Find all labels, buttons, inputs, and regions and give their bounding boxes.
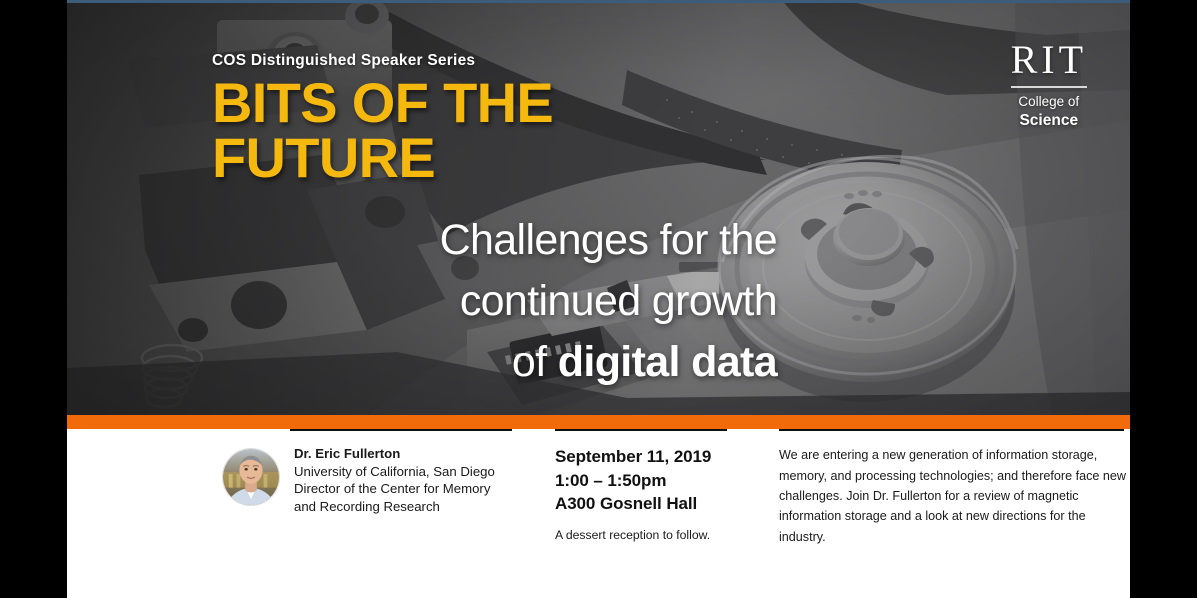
avatar — [222, 448, 280, 506]
rit-logo-unit-line-1: College of — [1011, 94, 1087, 111]
poster-info-row: Dr. Eric Fullerton University of Califor… — [67, 429, 1130, 598]
event-time: 1:00 – 1:50pm — [555, 469, 731, 492]
speaker-column: Dr. Eric Fullerton University of Califor… — [222, 429, 512, 515]
rit-logo-unit-line-2: Science — [1011, 111, 1087, 130]
event-date: September 11, 2019 — [555, 445, 731, 468]
speaker-affiliation: University of California, San Diego — [294, 463, 495, 481]
speaker-row: Dr. Eric Fullerton University of Califor… — [222, 445, 512, 515]
event-details-column: September 11, 2019 1:00 – 1:50pm A300 Go… — [555, 429, 731, 542]
description-column: We are entering a new generation of info… — [779, 429, 1127, 547]
series-eyebrow: COS Distinguished Speaker Series — [212, 52, 475, 70]
speaker-headshot-icon — [223, 449, 279, 505]
speaker-title-line-2: and Recording Research — [294, 498, 495, 516]
event-location: A300 Gosnell Hall — [555, 492, 731, 515]
poster-title-line-1: BITS OF THE — [212, 76, 732, 131]
rit-logo: RIT College of Science — [1011, 40, 1087, 130]
event-details-column-rule — [555, 429, 727, 431]
speaker-column-rule — [290, 429, 512, 431]
speaker-name: Dr. Eric Fullerton — [294, 445, 495, 463]
poster-subtitle: Challenges for the continued growth of d… — [237, 210, 777, 393]
poster-subtitle-line-1: Challenges for the — [237, 210, 777, 271]
poster-title-line-2: FUTURE — [212, 131, 732, 186]
poster-subtitle-line-3-prefix: of — [512, 338, 558, 386]
hero-banner: COS Distinguished Speaker Series BITS OF… — [67, 0, 1130, 415]
event-poster: COS Distinguished Speaker Series BITS OF… — [67, 0, 1130, 598]
poster-canvas: COS Distinguished Speaker Series BITS OF… — [0, 0, 1197, 598]
poster-title: BITS OF THE FUTURE — [212, 76, 732, 186]
poster-subtitle-emphasis: digital data — [558, 338, 777, 386]
speaker-title-line-1: Director of the Center for Memory — [294, 480, 495, 498]
speaker-details: Dr. Eric Fullerton University of Califor… — [294, 445, 495, 515]
event-reception-note: A dessert reception to follow. — [555, 528, 731, 542]
event-description: We are entering a new generation of info… — [779, 445, 1127, 547]
poster-subtitle-line-3: of digital data — [237, 332, 777, 393]
rit-wordmark: RIT — [1011, 40, 1087, 80]
description-column-rule — [779, 429, 1124, 431]
top-accent-rule — [67, 0, 1130, 3]
rit-logo-divider — [1011, 86, 1087, 88]
orange-accent-band — [67, 415, 1130, 429]
poster-subtitle-line-2: continued growth — [237, 271, 777, 332]
